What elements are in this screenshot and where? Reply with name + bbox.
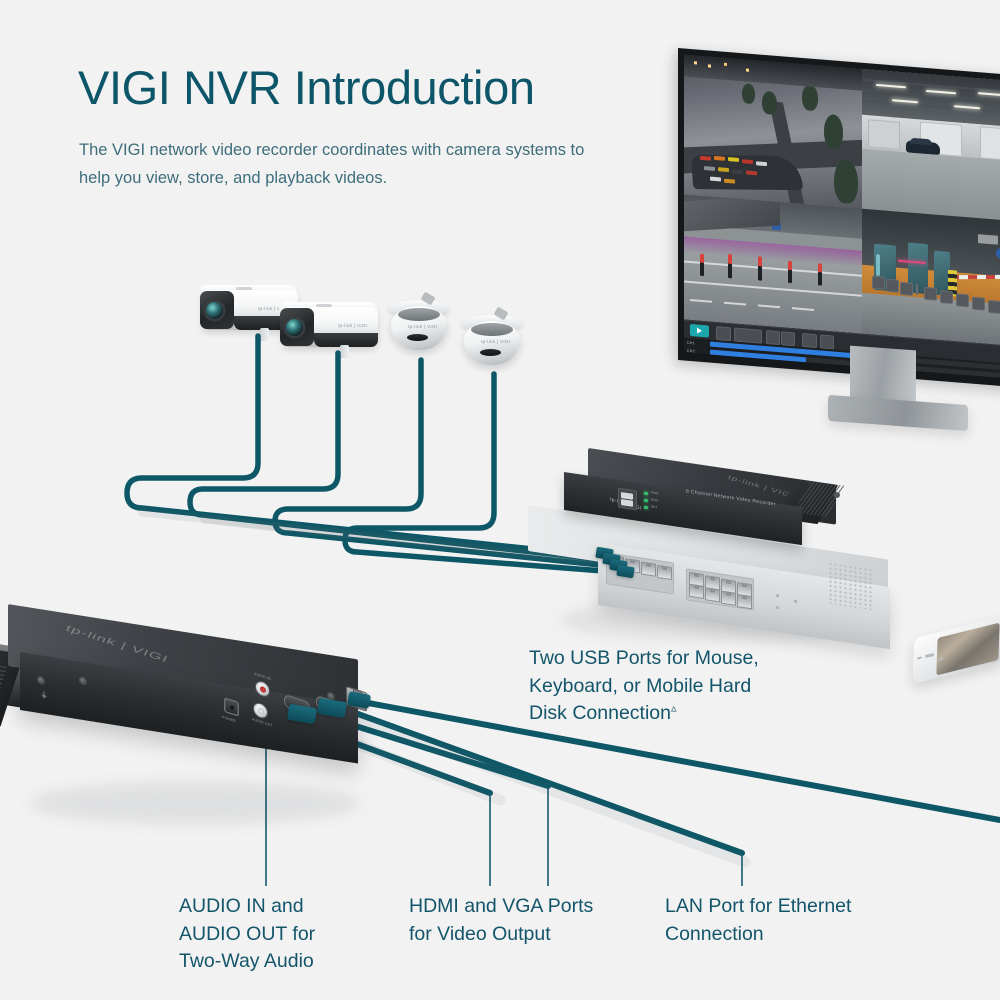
- page-subtitle: The VIGI network video recorder coordina…: [79, 136, 619, 193]
- nvr-rear-unit: tp-link | VIGI tp-link | VIGI PWR HDD NE…: [556, 448, 846, 558]
- monitor: CH1 CH2 CH3 CH4: [678, 48, 1000, 378]
- audio-out-jack[interactable]: [254, 702, 267, 719]
- callout-line: LAN Port for Ethernet: [665, 893, 905, 921]
- led-label: NET: [651, 505, 657, 510]
- camera-inner-ring: [471, 323, 513, 336]
- camera-lens: [480, 349, 501, 356]
- camera-lens: [286, 319, 303, 336]
- ground-symbol: ⏚: [40, 691, 48, 702]
- rj45-port[interactable]: [721, 591, 736, 606]
- callout-line: Disk Connection: [529, 702, 671, 724]
- toolbar-divider: [916, 284, 918, 295]
- callout-line: for Video Output: [409, 921, 644, 949]
- led-power: [644, 492, 648, 496]
- smartphone: [912, 628, 1000, 698]
- step-forward-button[interactable]: [781, 331, 795, 346]
- camera-bullet-2: tp-link | VIGI: [282, 307, 392, 357]
- toolbar-icon-tag[interactable]: [940, 290, 953, 304]
- camera-lens-housing: [200, 291, 234, 329]
- monitor-bezel: CH1 CH2 CH3 CH4: [678, 48, 1000, 387]
- camera-lens: [206, 302, 223, 319]
- camera-body: tp-link | VIGI: [282, 307, 378, 347]
- play-button[interactable]: [690, 324, 709, 338]
- callout-usb-ports: Two USB Ports for Mouse, Keyboard, or Mo…: [529, 645, 829, 728]
- led-hdd: [644, 499, 648, 503]
- led-label: HDD: [651, 497, 658, 502]
- toolbar-icon-clip[interactable]: [956, 293, 969, 307]
- usb-port-group[interactable]: [618, 488, 637, 511]
- callout-line: HDMI and VGA Ports: [409, 893, 644, 921]
- illustration-canvas: VIGI NVR Introduction The VIGI network v…: [0, 0, 1000, 1000]
- toolbar-icon-settings[interactable]: [872, 276, 885, 290]
- rj45-port[interactable]: [689, 584, 704, 599]
- camera-lens-housing: [280, 308, 314, 346]
- camera-turret-1: tp-link | VIGI: [386, 300, 452, 362]
- callout-line: Connection: [665, 921, 905, 949]
- power-label: POWER: [222, 715, 236, 723]
- led-net: [644, 506, 648, 510]
- rj45-port[interactable]: [705, 587, 720, 602]
- camera-brand-logo: tp-link | VIGI: [338, 323, 367, 328]
- camera-brand-logo: tp-link | VIGI: [408, 324, 437, 329]
- toolbar-icon-save[interactable]: [988, 300, 1000, 314]
- switch-vent: [828, 562, 874, 611]
- camera-brand-logo: tp-link | VIGI: [481, 339, 510, 344]
- stop-button[interactable]: [716, 326, 731, 341]
- callout-superscript-marker: ▵: [671, 703, 677, 715]
- usb-port[interactable]: [621, 499, 633, 507]
- toolbar-icon-clock[interactable]: [886, 279, 899, 293]
- nvr-thumbscrew: [834, 492, 840, 498]
- page-title: VIGI NVR Introduction: [78, 62, 718, 115]
- toolbar-icon-lock[interactable]: [924, 287, 937, 301]
- timeline-channel-label: CH2: [687, 349, 695, 354]
- callout-video-ports: HDMI and VGA Ports for Video Output: [409, 893, 644, 948]
- step-back-button[interactable]: [766, 330, 780, 345]
- callout-line: AUDIO OUT for: [179, 921, 379, 949]
- callout-line: AUDIO IN and: [179, 893, 379, 921]
- nvr-brand-emboss: tp-link | VIGI: [64, 624, 170, 665]
- camera-body: tp-link | VIGI: [391, 306, 447, 350]
- rj45-port[interactable]: [657, 565, 672, 580]
- callout-line: Two-Way Audio: [179, 948, 379, 976]
- panel-screw: [80, 677, 86, 685]
- audio-out-label: AUDIO OUT: [252, 717, 273, 728]
- camera-turret-2: tp-link | VIGI: [459, 315, 525, 377]
- power-jack[interactable]: [224, 697, 239, 717]
- camera-feed-1: [684, 54, 862, 208]
- timeline-channel-label: CH1: [687, 341, 695, 346]
- toolbar-icon-cut[interactable]: [972, 297, 985, 311]
- panel-screw: [38, 676, 44, 684]
- rj45-port[interactable]: [737, 594, 752, 609]
- timeline-timestamp: 13:45:29: [818, 362, 835, 368]
- camera-mount: [340, 345, 349, 358]
- callout-line: Two USB Ports for Mouse,: [529, 645, 829, 673]
- camera-feed-2: [862, 69, 1000, 223]
- next-button[interactable]: [802, 333, 817, 348]
- camera-inner-ring: [398, 308, 440, 321]
- camera-mount: [260, 328, 269, 341]
- monitor-screen: CH1 CH2 CH3 CH4: [684, 54, 1000, 379]
- camera-lens: [407, 334, 428, 341]
- toolbar-icon-filter[interactable]: [900, 282, 913, 296]
- volume-button[interactable]: [820, 334, 834, 349]
- camera-feed-3: [684, 194, 862, 333]
- callout-audio-ports: AUDIO IN and AUDIO OUT for Two-Way Audio: [179, 893, 379, 976]
- monitor-base: [828, 395, 968, 431]
- callout-lan-port: LAN Port for Ethernet Connection: [665, 893, 905, 948]
- timeline-channel-label: CH4: [687, 365, 695, 370]
- camera-body: tp-link | VIGI: [464, 321, 520, 365]
- timeline-channel-label: CH3: [687, 357, 695, 362]
- callout-line: Keyboard, or Mobile Hard: [529, 673, 829, 701]
- rj45-port[interactable]: [641, 562, 656, 577]
